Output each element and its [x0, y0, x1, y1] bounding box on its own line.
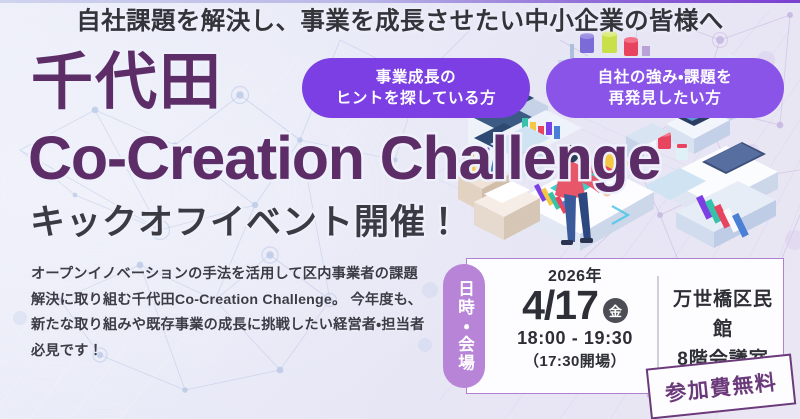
free-admission-stamp-label: 参加費無料 — [663, 366, 778, 408]
audience-pill-growth-hints-line1: 事業成長の — [376, 67, 457, 88]
audience-pill-rediscover-strengths-line1: 自社の強み・課題を — [598, 67, 733, 88]
audience-pill-rediscover-strengths-line2: 再発見したい方 — [609, 88, 722, 109]
page-title-line3: キックオフイベント開催！ — [30, 205, 462, 240]
kicker-headline: 自社課題を解決し、事業を成長させたい中小企業の皆様へ — [0, 2, 800, 37]
audience-pill-rediscover-strengths: 自社の強み・課題を 再発見したい方 — [546, 58, 784, 118]
event-time: 18:00 - 19:30 — [495, 328, 655, 349]
event-day-of-week-badge: 金 — [603, 298, 628, 323]
event-info-tab-label: 日時・会場 — [443, 264, 485, 388]
event-doors-open-note: （17:30開場） — [495, 350, 655, 371]
page-title-line1: 千代田 — [31, 52, 223, 114]
poster-root: 自社課題を解決し、事業を成長させたい中小企業の皆様へ 千代田 Co-Creati… — [0, 0, 800, 419]
page-title-line2: Co-Creation Challenge — [28, 128, 660, 189]
description-text: オープンイノベーションの手法を活用して区内事業者の課題解決に取り組む千代田Co-… — [31, 262, 431, 364]
event-date-row: 4/17 金 — [495, 284, 655, 327]
event-datetime-block: 2026年 4/17 金 18:00 - 19:30 （17:30開場） — [495, 262, 655, 371]
event-date: 4/17 — [522, 284, 598, 327]
info-panel-divider — [657, 276, 659, 368]
audience-pill-growth-hints: 事業成長の ヒントを探している方 — [302, 58, 530, 118]
audience-pill-growth-hints-line2: ヒントを探している方 — [336, 88, 497, 109]
event-venue-line1: 万世橋区民館 — [664, 285, 782, 345]
